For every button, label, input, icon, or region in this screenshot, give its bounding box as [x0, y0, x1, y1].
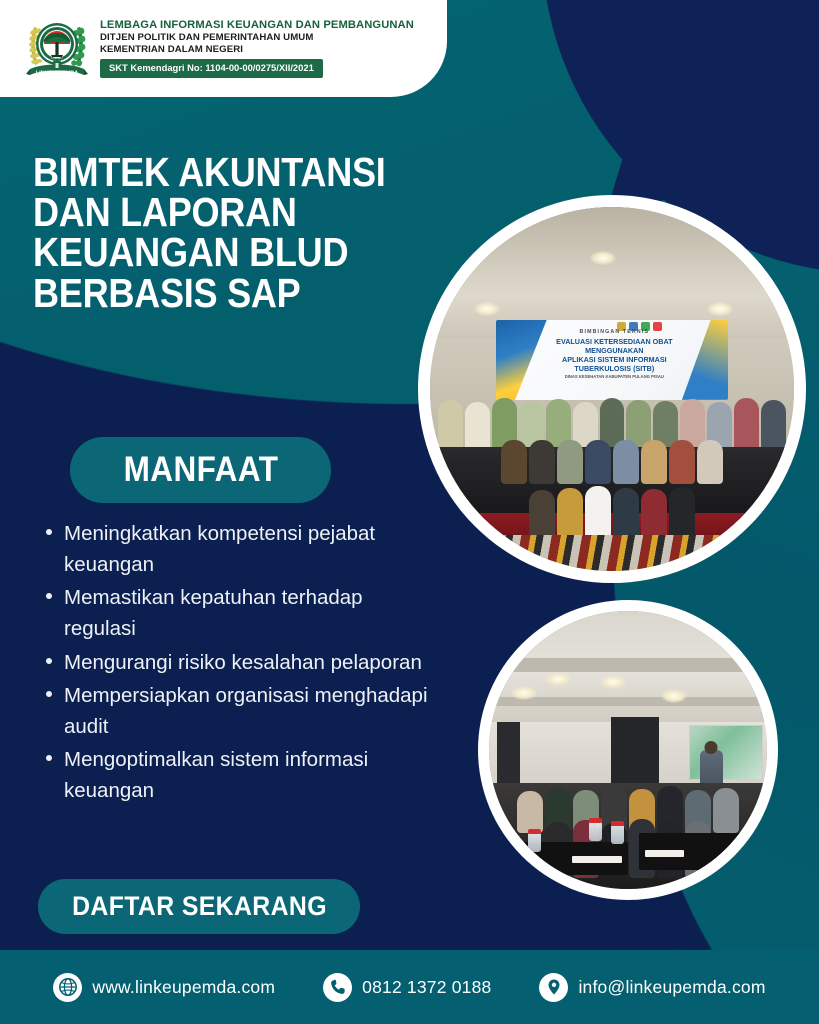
- register-now-label: DAFTAR SEKARANG: [72, 891, 327, 922]
- poster-title: BIMTEK AKUNTANSI DAN LAPORAN KEUANGAN BL…: [33, 152, 385, 313]
- title-line-3: KEUANGAN BLUD: [33, 232, 385, 272]
- footer-phone[interactable]: 0812 1372 0188: [323, 973, 491, 1002]
- photo-group-participants: BIMBINGAN TEKNIS EVALUASI KETERSEDIAAN O…: [418, 195, 806, 583]
- org-name-line2: DITJEN POLITIK DAN PEMERINTAHAN UMUM: [100, 33, 414, 44]
- org-name-line3: KEMENTRIAN DALAM NEGERI: [100, 45, 414, 56]
- title-line-2: DAN LAPORAN: [33, 192, 385, 232]
- manfaat-badge: MANFAAT: [70, 437, 331, 503]
- skt-license-badge: SKT Kemendagri No: 1104-00-00/0275/XII/2…: [100, 59, 323, 78]
- svg-text:LINKEU: LINKEU: [51, 56, 62, 60]
- register-now-button[interactable]: DAFTAR SEKARANG: [38, 879, 360, 934]
- benefit-item: Meningkatkan kompetensi pejabat keuangan: [38, 518, 438, 580]
- benefit-item: Mempersiapkan organisasi menghadapi audi…: [38, 680, 438, 742]
- photo1-carpet: [430, 535, 794, 571]
- org-name-line1: LEMBAGA INFORMASI KEUANGAN DAN PEMBANGUN…: [100, 19, 414, 32]
- benefit-item: Mengurangi risiko kesalahan pelaporan: [38, 647, 438, 678]
- photo1-banner-line1: EVALUASI KETERSEDIAAN OBAT MENGGUNAKAN: [551, 337, 677, 355]
- svg-text:LINKEU PEMDA: LINKEU PEMDA: [36, 70, 79, 76]
- benefit-item: Mengoptimalkan sistem informasi keuangan: [38, 744, 438, 806]
- location-pin-icon: [539, 973, 568, 1002]
- promo-poster: BIMBINGAN TEKNIS EVALUASI KETERSEDIAAN O…: [0, 0, 819, 1024]
- phone-icon: [323, 973, 352, 1002]
- footer-website[interactable]: www.linkeupemda.com: [53, 973, 275, 1002]
- globe-icon: [53, 973, 82, 1002]
- footer-phone-text: 0812 1372 0188: [362, 977, 491, 998]
- manfaat-label: MANFAAT: [123, 450, 278, 490]
- benefits-list: Meningkatkan kompetensi pejabat keuangan…: [38, 518, 438, 808]
- footer-website-text: www.linkeupemda.com: [92, 977, 275, 998]
- benefit-item: Memastikan kepatuhan terhadap regulasi: [38, 582, 438, 644]
- footer-email[interactable]: info@linkeupemda.com: [539, 973, 765, 1002]
- title-line-1: BIMTEK AKUNTANSI: [33, 152, 385, 192]
- linkeu-pemda-logo: LINKEU LINKEU PEMDA: [24, 13, 90, 85]
- footer-contact-bar: www.linkeupemda.com 0812 1372 0188 info@…: [0, 950, 819, 1024]
- title-line-4: BERBASIS SAP: [33, 273, 385, 313]
- header-banner: LINKEU LINKEU PEMDA LEMBAGA INFORMASI KE…: [0, 0, 447, 97]
- photo-classroom-session: [478, 600, 778, 900]
- footer-email-text: info@linkeupemda.com: [578, 977, 765, 998]
- photo1-banner-pretitle: BIMBINGAN TEKNIS: [551, 329, 677, 336]
